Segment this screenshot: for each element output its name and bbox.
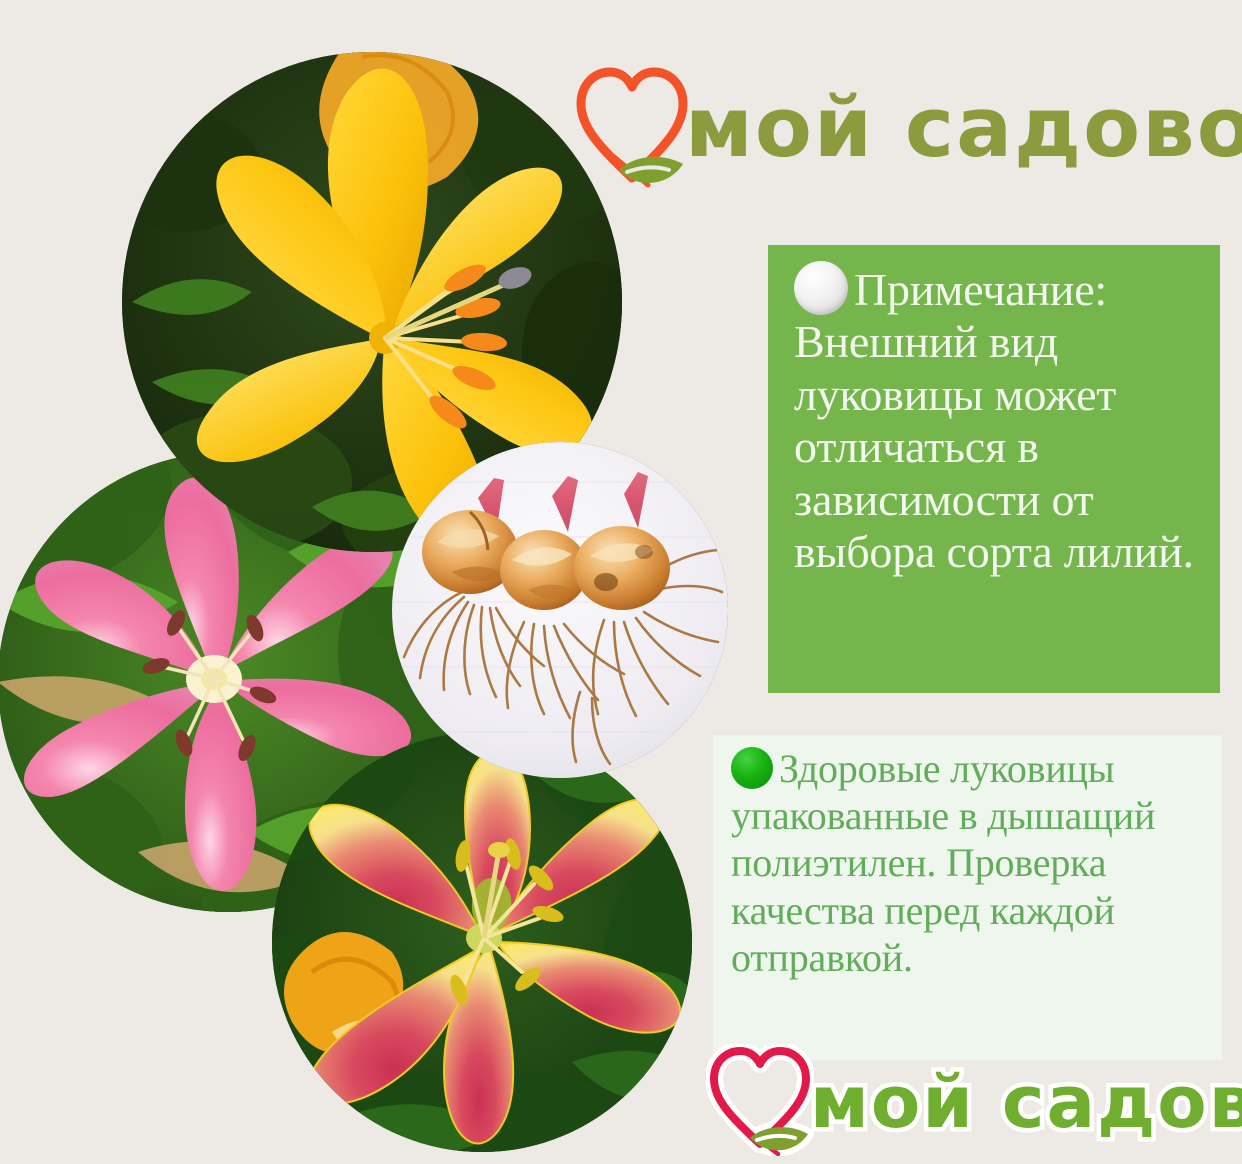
note-panel-full-text: Примечание: Внешний вид луковицы может о… — [794, 264, 1194, 577]
quality-panel-full-text: Здоровые луковицы упакованные в дышащий … — [731, 746, 1155, 980]
heart-leaf-icon-bottom — [706, 1044, 814, 1156]
photo-lily-bulbs — [392, 442, 728, 778]
green-sphere-bullet-icon — [731, 747, 773, 789]
logo-bottom: мой садовод — [706, 1040, 1226, 1160]
note-panel: Примечание: Внешний вид луковицы может о… — [768, 245, 1220, 693]
poster-canvas: Примечание: Внешний вид луковицы может о… — [0, 0, 1242, 1164]
logo-bottom-wordmark: мой садовод — [810, 1066, 1242, 1138]
logo-top-wordmark: мой садовод — [685, 86, 1242, 169]
heart-leaf-icon — [573, 60, 691, 190]
photo-red-yellow-lily — [272, 732, 692, 1152]
quality-panel: Здоровые луковицы упакованные в дышащий … — [713, 735, 1222, 1060]
logo-top: мой садовод — [573, 52, 1223, 197]
quality-panel-text: Здоровые луковицы упакованные в дышащий … — [731, 745, 1204, 981]
note-panel-text: Примечание: Внешний вид луковицы может о… — [794, 261, 1194, 579]
white-sphere-bullet-icon — [794, 261, 848, 315]
